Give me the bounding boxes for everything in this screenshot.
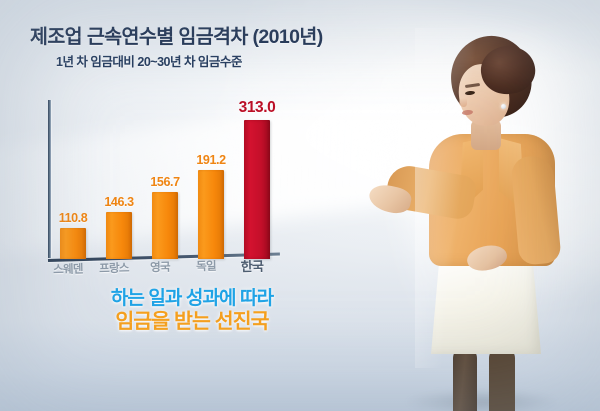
bar-value-germany: 191.2 (196, 153, 225, 167)
bar-sweden (60, 228, 86, 259)
bar-germany (198, 170, 224, 259)
bar-slot-germany: 191.2 (198, 104, 224, 259)
category-label-sweden: 스웨덴 (53, 261, 83, 278)
presenter-figure (355, 28, 600, 411)
broadcast-graphic-stage: 제조업 근속연수별 임금격차 (2010년) 1년 차 임금대비 20~30년 … (0, 0, 600, 411)
category-axis-labels: 스웨덴 프랑스 영국 독일 한국 (54, 258, 264, 278)
presenter-floor-shadow (407, 389, 557, 411)
bar-korea (244, 120, 270, 259)
bar-slot-korea: 313.0 (244, 104, 270, 259)
caption-block: 하는 일과 성과에 따라 임금을 받는 선진국 (62, 288, 322, 335)
bar-value-korea: 313.0 (239, 99, 276, 117)
bar-uk (152, 192, 178, 259)
chart-title-block: 제조업 근속연수별 임금격차 (2010년) 1년 차 임금대비 20~30년 … (30, 26, 330, 70)
caption-line-2: 임금을 받는 선진국 (62, 310, 322, 334)
presenter-leg-right (489, 348, 515, 411)
bar-chart: 110.8 146.3 156.7 191.2 313.0 (48, 100, 280, 262)
category-label-korea: 한국 (240, 256, 263, 276)
presenter-earring (501, 104, 506, 109)
presenter-leg-left (453, 348, 477, 411)
bar-value-france: 146.3 (104, 195, 133, 209)
y-axis-line (48, 100, 51, 258)
presenter-nose (459, 98, 467, 107)
category-label-germany: 독일 (196, 258, 216, 275)
bar-france (106, 212, 132, 259)
chart-title: 제조업 근속연수별 임금격차 (2010년) (30, 26, 330, 48)
bar-slot-sweden: 110.8 (60, 104, 86, 259)
bar-value-uk: 156.7 (150, 175, 179, 189)
chart-subtitle: 1년 차 임금대비 20~30년 차 임금수준 (56, 51, 330, 70)
bar-value-sweden: 110.8 (59, 211, 88, 225)
caption-line-1: 하는 일과 성과에 따라 (62, 288, 322, 310)
bar-slot-france: 146.3 (106, 104, 132, 259)
bar-group: 110.8 146.3 156.7 191.2 313.0 (60, 104, 280, 259)
category-label-uk: 영국 (150, 259, 170, 276)
category-label-france: 프랑스 (99, 260, 129, 277)
bar-slot-uk: 156.7 (152, 104, 178, 259)
